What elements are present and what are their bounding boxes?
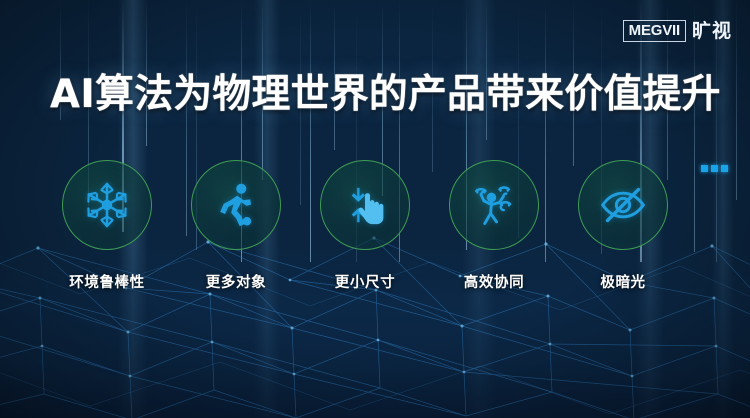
feature-item: 更多对象	[191, 160, 281, 292]
logo-mark-text: MEGVII	[623, 20, 686, 42]
eye-slash-icon	[597, 179, 649, 231]
feature-item: 环境鲁棒性	[62, 160, 152, 292]
presentation-slide: MEGVII 旷视 AI算法为物理世界的产品带来价值提升	[0, 0, 750, 418]
dot-3	[721, 165, 728, 172]
snowflake-icon	[82, 180, 132, 230]
feature-label: 极暗光	[600, 271, 645, 292]
feature-icon-circle	[578, 160, 668, 250]
multi-arm-person-icon	[467, 178, 521, 232]
feature-label: 更小尺寸	[335, 271, 395, 292]
dot-2	[711, 165, 718, 172]
feature-item: 高效协同	[449, 160, 539, 292]
feature-icon-circle	[320, 160, 410, 250]
decorative-dots	[701, 165, 728, 172]
feature-icon-circle	[449, 160, 539, 250]
pinch-hand-icon	[340, 180, 390, 230]
feature-item: 极暗光	[578, 160, 668, 292]
dot-1	[701, 165, 708, 172]
feature-label: 环境鲁棒性	[69, 271, 145, 292]
feature-item: 更小尺寸	[320, 160, 410, 292]
logo-chinese-text: 旷视	[692, 22, 732, 41]
feature-label: 高效协同	[464, 271, 524, 292]
feature-row: 环境鲁棒性 更多对象	[0, 160, 750, 292]
running-person-icon	[210, 179, 262, 231]
slide-title: AI算法为物理世界的产品带来价值提升	[50, 74, 721, 116]
megvii-logo: MEGVII 旷视	[623, 20, 732, 42]
feature-icon-circle	[191, 160, 281, 250]
feature-icon-circle	[62, 160, 152, 250]
feature-label: 更多对象	[206, 271, 266, 292]
